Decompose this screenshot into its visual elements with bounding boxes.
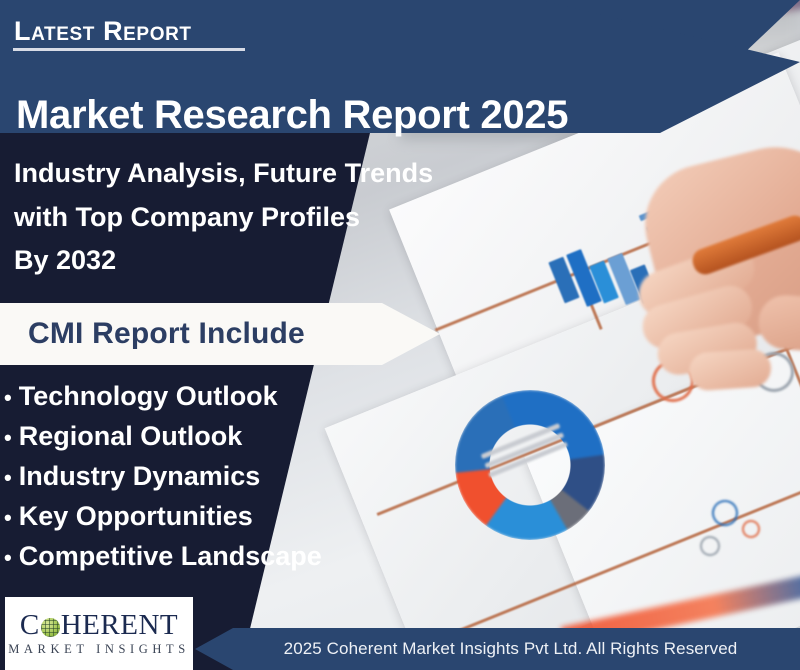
logo-word-after: HERENT [61,611,178,640]
logo-tagline: MARKET INSIGHTS [8,643,190,656]
subtitle-line: with Top Company Profiles [14,196,433,240]
list-item: • Regional Outlook [4,423,404,450]
list-item: • Industry Dynamics [4,463,404,490]
page-title: Market Research Report 2025 [16,95,568,135]
bullet-dot-icon: • [4,387,12,409]
list-item-label: Competitive Landscape [19,543,322,570]
list-item-label: Technology Outlook [19,383,278,410]
feature-bullet-list: • Technology Outlook • Regional Outlook … [4,383,404,583]
subtitle-line: Industry Analysis, Future Trends [14,152,433,196]
bullet-dot-icon: • [4,507,12,529]
eyebrow-label: Latest Report [14,18,192,45]
bullet-dot-icon: • [4,427,12,449]
subtitle-line: By 2032 [14,239,433,283]
callout-arrow-banner: CMI Report Include [0,303,440,365]
market-report-banner: Latest Report Market Research Report 202… [0,0,800,670]
logo-wordmark: C HERENT [20,611,178,640]
globe-icon [41,618,60,637]
subtitle-block: Industry Analysis, Future Trends with To… [14,152,433,283]
list-item: • Competitive Landscape [4,543,404,570]
bullet-dot-icon: • [4,547,12,569]
footer-bar: 2025 Coherent Market Insights Pvt Ltd. A… [195,628,800,670]
company-logo: C HERENT MARKET INSIGHTS [5,597,193,670]
list-item-label: Regional Outlook [19,423,243,450]
list-item-label: Key Opportunities [19,503,253,530]
bullet-dot-icon: • [4,467,12,489]
list-item: • Key Opportunities [4,503,404,530]
logo-word-before: C [20,611,40,640]
list-item: • Technology Outlook [4,383,404,410]
copyright-text: 2025 Coherent Market Insights Pvt Ltd. A… [258,639,738,659]
list-item-label: Industry Dynamics [19,463,261,490]
callout-label: CMI Report Include [0,317,305,351]
eyebrow-underline [13,48,245,51]
